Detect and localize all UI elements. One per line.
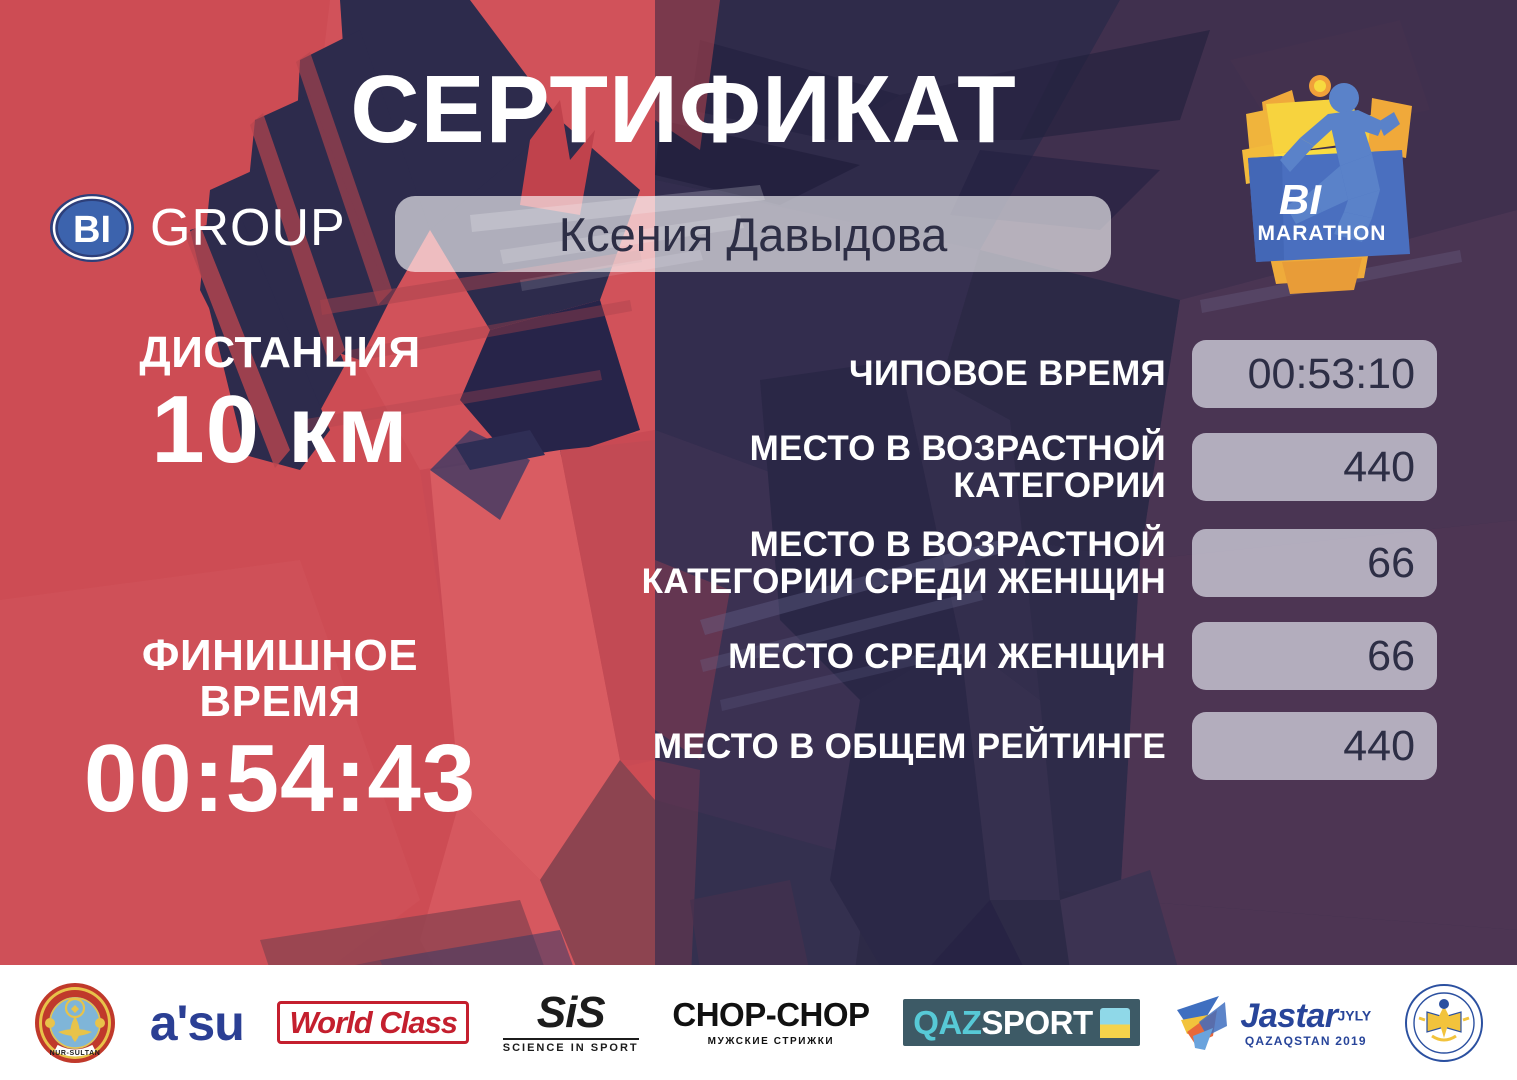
finish-time-block: ФИНИШНОЕ ВРЕМЯ 00:54:43: [0, 633, 560, 830]
bi-marathon-logo: BI MARATHON: [1222, 62, 1437, 297]
stat-label: ЧИПОВОЕ ВРЕМЯ: [622, 355, 1166, 392]
qazsport-logo: QAZ SPORT: [903, 999, 1139, 1046]
sis-mark: SiS: [503, 991, 639, 1035]
stat-row: МЕСТО В ОБЩЕМ РЕЙТИНГЕ 440: [622, 712, 1437, 780]
stat-row: ЧИПОВОЕ ВРЕМЯ 00:53:10: [622, 340, 1437, 408]
stat-label: МЕСТО СРЕДИ ЖЕНЩИН: [622, 638, 1166, 675]
chop-chop-block: CHOP-CHOP МУЖСКИЕ СТРИЖКИ: [672, 998, 869, 1047]
qazsport-text-a: QAZ: [913, 1006, 981, 1039]
world-class-box: World Class: [277, 1001, 469, 1044]
distance-value: 10 км: [0, 380, 560, 481]
sis-tagline: SCIENCE IN SPORT: [503, 1038, 639, 1054]
world-class-logo: World Class: [277, 1001, 469, 1044]
sponsor-footer: NUR-SULTAN a'su World Class SiS SCIENCE …: [0, 965, 1517, 1080]
nur-sultan-text: NUR-SULTAN: [50, 1050, 101, 1057]
qazsport-box: QAZ SPORT: [903, 999, 1139, 1046]
jastar-block: JastarJYLY QAZAQSTAN 2019: [1173, 992, 1371, 1054]
certificate: СЕРТИФИКАТ BI GROUP Ксения Давыдова: [0, 0, 1517, 1080]
asu-logo: a'su: [150, 998, 244, 1048]
finish-time-label-line1: ФИНИШНОЕ: [0, 633, 560, 679]
ministry-emblem-icon: [1405, 984, 1483, 1062]
nur-sultan-emblem-icon: NUR-SULTAN: [34, 982, 116, 1064]
world-class-text: World Class: [289, 1007, 457, 1038]
chop-chop-mark: CHOP-CHOP: [672, 998, 869, 1031]
bi-badge-icon: BI: [48, 192, 136, 264]
sis-logo: SiS SCIENCE IN SPORT: [503, 991, 639, 1054]
stat-label: МЕСТО В ВОЗРАСТНОЙ КАТЕГОРИИ СРЕДИ ЖЕНЩИ…: [622, 526, 1166, 600]
finish-time-value: 00:54:43: [0, 729, 560, 830]
stat-row: МЕСТО В ВОЗРАСТНОЙ КАТЕГОРИИ СРЕДИ ЖЕНЩИ…: [622, 526, 1437, 600]
sis-block: SiS SCIENCE IN SPORT: [503, 991, 639, 1054]
qazsport-flag-icon: [1100, 1008, 1130, 1038]
chop-chop-logo: CHOP-CHOP МУЖСКИЕ СТРИЖКИ: [672, 998, 869, 1047]
jastar-wordmark: Jastar: [1240, 997, 1337, 1035]
stat-row: МЕСТО СРЕДИ ЖЕНЩИН 66: [622, 622, 1437, 690]
jastar-wordwrap: JastarJYLY QAZAQSTAN 2019: [1240, 999, 1371, 1047]
finish-time-label-line2: ВРЕМЯ: [0, 679, 560, 725]
stat-value: 440: [1192, 712, 1437, 780]
bi-group-logo: BI GROUP: [48, 192, 346, 264]
chop-chop-tagline: МУЖСКИЕ СТРИЖКИ: [672, 1037, 869, 1047]
qazsport-text-b: SPORT: [981, 1006, 1092, 1039]
stat-value: 00:53:10: [1192, 340, 1437, 408]
stats-list: ЧИПОВОЕ ВРЕМЯ 00:53:10 МЕСТО В ВОЗРАСТНО…: [622, 340, 1437, 780]
marathon-mark-text: BI: [1279, 176, 1322, 223]
bi-group-wordmark: GROUP: [150, 202, 346, 254]
stat-value: 440: [1192, 433, 1437, 501]
jastar-jyly-logo: JastarJYLY QAZAQSTAN 2019: [1173, 992, 1371, 1054]
jastar-arrow-icon: [1173, 992, 1235, 1054]
left-summary: ДИСТАНЦИЯ 10 км ФИНИШНОЕ ВРЕМЯ 00:54:43: [0, 330, 560, 830]
stat-row: МЕСТО В ВОЗРАСТНОЙ КАТЕГОРИИ 440: [622, 430, 1437, 504]
bi-badge-text: BI: [73, 209, 111, 251]
jastar-super: JYLY: [1338, 1007, 1372, 1023]
stat-label: МЕСТО В ОБЩЕМ РЕЙТИНГЕ: [622, 728, 1166, 765]
stat-label: МЕСТО В ВОЗРАСТНОЙ КАТЕГОРИИ: [622, 430, 1166, 504]
marathon-sub-text: MARATHON: [1258, 222, 1387, 245]
stat-value: 66: [1192, 529, 1437, 597]
asu-wordmark: a'su: [150, 998, 244, 1048]
jastar-sub: QAZAQSTAN 2019: [1240, 1035, 1371, 1047]
stat-value: 66: [1192, 622, 1437, 690]
distance-label: ДИСТАНЦИЯ: [0, 330, 560, 376]
athlete-name: Ксения Давыдова: [395, 196, 1111, 272]
